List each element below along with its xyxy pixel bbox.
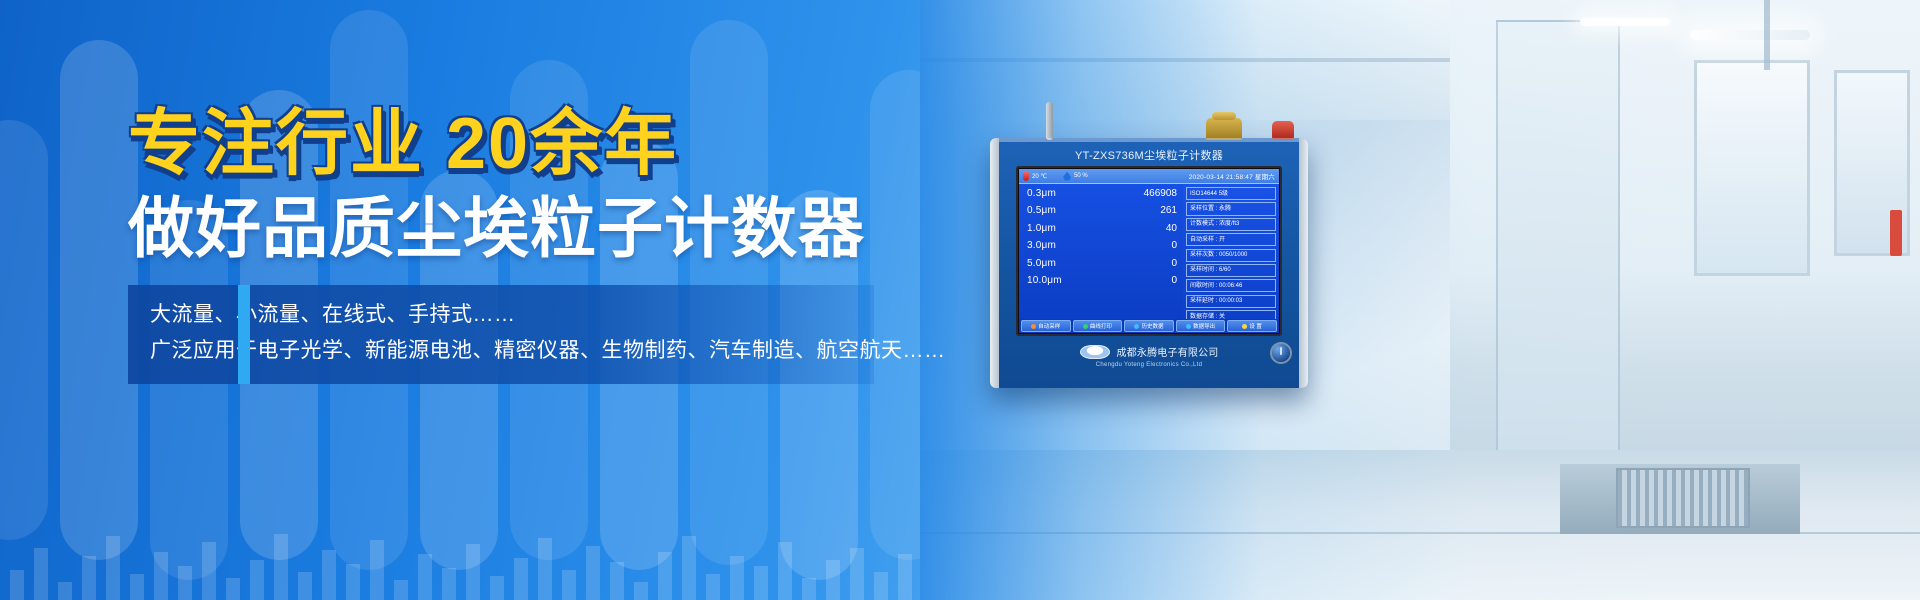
particle-size: 3.0μm [1027,241,1056,251]
brand-name-english: Chengdu Yoteng Electronics Co.,Ltd [990,362,1308,368]
button-label: 曲线打印 [1090,322,1112,330]
settings-button[interactable]: 设 置 [1227,320,1277,332]
info-row: 计数模式 : 浓度/ft3 [1186,218,1276,231]
particle-size: 10.0μm [1027,276,1062,286]
info-row: 采样时间 : 6/60 [1186,264,1276,277]
particle-reading-list: 0.3μm 466908 0.5μm 261 1.0μm 40 3.0μm [1019,184,1183,333]
info-row: 间歇时间 : 00:06:46 [1186,279,1276,292]
hero-banner: 专注行业 20余年 做好品质尘埃粒子计数器 大流量、小流量、在线式、手持式…… … [0,0,1920,600]
status-dot-icon [1031,324,1036,329]
yoteng-logo-icon [1080,345,1110,359]
particle-size: 0.3μm [1027,189,1056,199]
humidity-value: 50 % [1074,173,1088,179]
info-row: 自动采样 : 开 [1186,233,1276,246]
history-data-button[interactable]: 历史数据 [1124,320,1174,332]
status-dot-icon [1186,324,1191,329]
subtitle-accent-bar [238,285,250,383]
button-label: 自动采样 [1038,322,1060,330]
device-model-label: YT-ZXS736M尘埃粒子计数器 [990,147,1308,163]
particle-size: 1.0μm [1027,224,1056,234]
list-item: 10.0μm 0 [1027,276,1177,286]
status-dot-icon [1242,324,1247,329]
temperature-value: 20 ℃ [1032,173,1047,180]
list-item: 0.3μm 466908 [1027,189,1177,199]
brand-name: 成都永腾电子有限公司 [1117,344,1219,359]
info-row: 采样位置 : 永腾 [1186,202,1276,215]
screen-status-bar: 20 ℃ 50 % 2020-03-14 21:58:47 星期六 [1019,169,1279,184]
particle-size: 0.5μm [1027,206,1056,216]
power-button[interactable] [1270,342,1292,364]
particle-count: 261 [1160,206,1177,216]
particle-count: 40 [1166,224,1177,234]
subtitle-line-1: 大流量、小流量、在线式、手持式…… [150,297,850,333]
particle-size: 5.0μm [1027,259,1056,269]
subtitle-line-2: 广泛应用于电子光学、新能源电池、精密仪器、生物制药、汽车制造、航空航天…… [150,333,850,369]
info-row: 采样次数 : 0050/1000 [1186,249,1276,262]
auto-sample-button[interactable]: 自动采样 [1021,320,1071,332]
gold-connector-icon [1206,118,1242,140]
list-item: 0.5μm 261 [1027,206,1177,216]
info-row: ISO14644 5级 [1186,187,1276,200]
particle-count: 0 [1171,259,1177,269]
list-item: 1.0μm 40 [1027,224,1177,234]
device-info-panel: ISO14644 5级 采样位置 : 永腾 计数模式 : 浓度/ft3 自动采样… [1183,184,1279,333]
list-item: 5.0μm 0 [1027,259,1177,269]
hero-copy: 专注行业 20余年 做好品质尘埃粒子计数器 大流量、小流量、在线式、手持式…… … [128,108,908,384]
thermometer-icon [1023,171,1029,181]
page-title: 专注行业 20余年 [128,108,908,180]
particle-count: 466908 [1144,189,1177,199]
button-label: 历史数据 [1141,322,1163,330]
screen-button-bar: 自动采样 曲线打印 历史数据 数据导出 [1019,319,1279,333]
info-row: 采样延时 : 00:00:03 [1186,295,1276,308]
page-subtitle: 做好品质尘埃粒子计数器 [128,194,908,263]
status-dot-icon [1083,324,1088,329]
status-dot-icon [1134,324,1139,329]
particle-count: 0 [1171,241,1177,251]
curve-print-button[interactable]: 曲线打印 [1073,320,1123,332]
antenna-icon [1046,102,1053,140]
button-label: 数据导出 [1193,322,1215,330]
data-export-button[interactable]: 数据导出 [1176,320,1226,332]
particle-count: 0 [1171,276,1177,286]
button-label: 设 置 [1249,322,1262,330]
device-brand: 成都永腾电子有限公司 [990,344,1308,359]
water-drop-icon [1063,172,1071,181]
device-screen[interactable]: 20 ℃ 50 % 2020-03-14 21:58:47 星期六 0.3μm … [1016,166,1282,336]
list-item: 3.0μm 0 [1027,241,1177,251]
particle-counter-device: YT-ZXS736M尘埃粒子计数器 20 ℃ 50 % 2020-03-14 2… [990,138,1308,388]
datetime-value: 2020-03-14 21:58:47 星期六 [1189,171,1275,181]
